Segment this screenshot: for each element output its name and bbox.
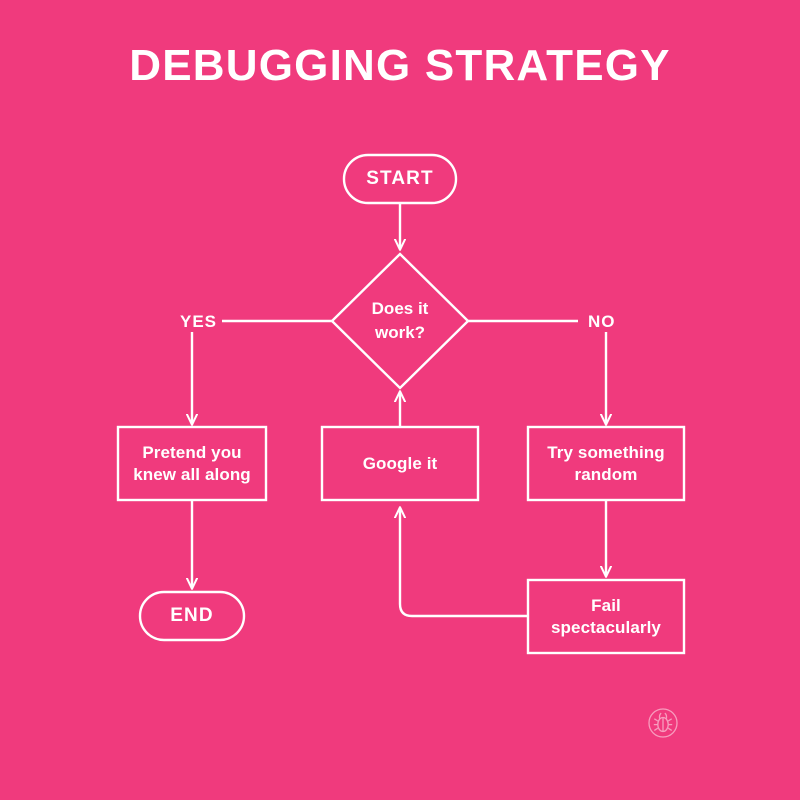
flowchart-graphics xyxy=(0,0,800,800)
bug-icon xyxy=(649,709,677,737)
node-fail-shape xyxy=(528,580,684,653)
edge-fail-to-google-loop xyxy=(400,508,528,616)
flowchart-canvas: DEBUGGING STRATEGY xyxy=(0,0,800,800)
edge-label-no: NO xyxy=(588,312,616,332)
edge-label-yes: YES xyxy=(180,312,217,332)
node-pretend-shape xyxy=(118,427,266,500)
node-google-shape xyxy=(322,427,478,500)
node-decision-shape xyxy=(332,254,468,388)
node-start-shape xyxy=(344,155,456,203)
node-end-shape xyxy=(140,592,244,640)
node-random-shape xyxy=(528,427,684,500)
